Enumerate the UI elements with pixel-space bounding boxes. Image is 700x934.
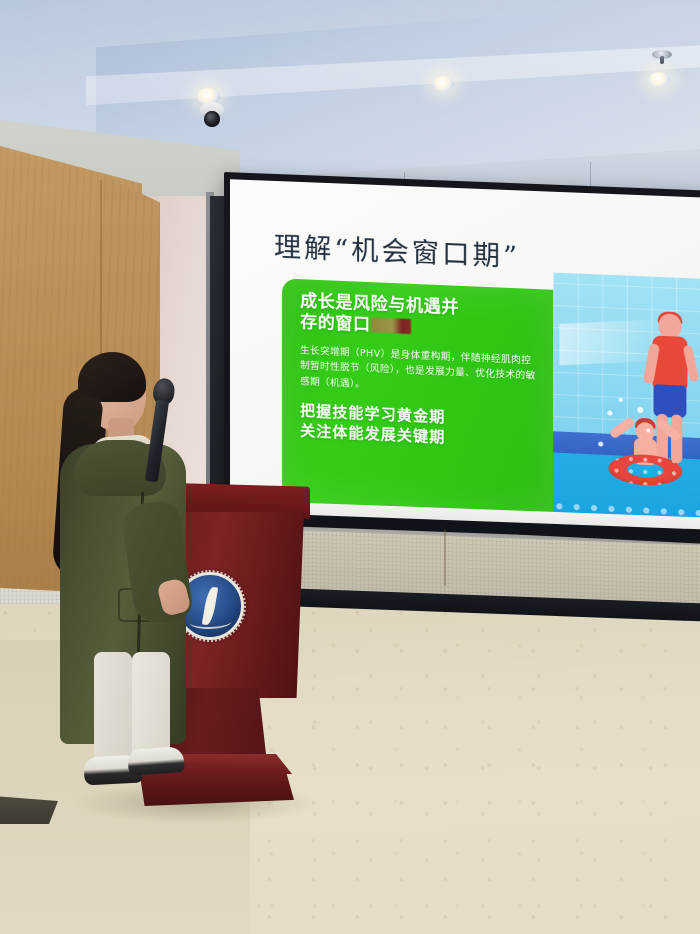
water-splash (598, 442, 603, 447)
swim-ring-dots (609, 453, 683, 487)
slide-card-heading-line2-text: 存的窗口 (300, 313, 370, 336)
downlight-icon (648, 72, 670, 87)
camera-lens (204, 111, 219, 127)
presenter-shoe-right (127, 746, 185, 776)
slide-card-heading: 成长是风险与机遇并 存的窗口 (300, 291, 539, 344)
slide-card-footer: 把握技能学习黄金期 关注体能发展关键期 (300, 400, 539, 452)
water-splash (637, 407, 643, 413)
sprinkler-stem (660, 56, 665, 64)
dome-camera-icon (200, 102, 224, 128)
slide-card-body: 生长突增期（PHV）是身体重构期，伴随神经肌肉控制暂时性脱节（风险），也是发展力… (300, 343, 539, 400)
swimming-pool-illustration (553, 273, 700, 538)
sprinkler-head-icon (652, 50, 672, 68)
child-arm-right (655, 418, 683, 443)
adult-shirt (653, 336, 688, 390)
acoustic-panel-seam (444, 530, 446, 586)
presenter-hair (78, 352, 146, 402)
presenter (56, 352, 216, 792)
screen-surface: 理解“机会窗口期” (230, 179, 700, 537)
child-swimmer-figure (602, 410, 688, 495)
downlight-icon (432, 76, 454, 91)
slide-green-card: 成长是风险与机遇并 存的窗口 生长突增期（PHV）是身体重构期，伴随神经肌肉控制… (282, 278, 553, 516)
lecture-hall-photo: 理解“机会窗口期” (0, 0, 700, 934)
water-splash (646, 428, 650, 432)
slide-title: 理解“机会窗口期” (274, 225, 520, 274)
water-splash (607, 411, 612, 416)
redaction-block (371, 318, 411, 335)
child-arm-left (609, 416, 636, 439)
